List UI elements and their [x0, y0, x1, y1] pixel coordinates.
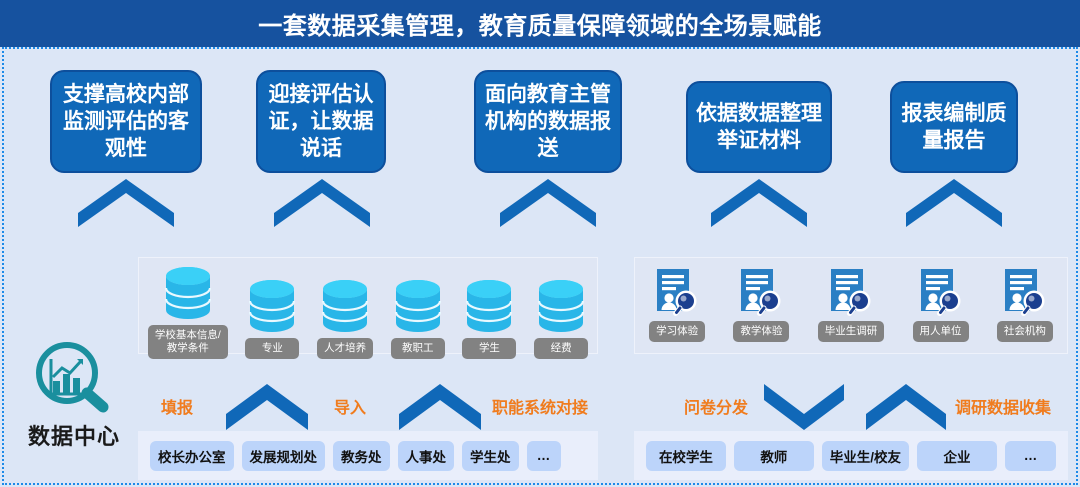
audience-chip-2[interactable]: 教师: [734, 441, 814, 471]
document-person-search-icon: [919, 268, 963, 316]
database-item-3[interactable]: 人才培养: [317, 279, 373, 359]
page-title: 一套数据采集管理，教育质量保障领域的全场景赋能: [0, 0, 1080, 47]
data-center-badge: 数据中心: [12, 341, 136, 451]
audience-chip-1[interactable]: 在校学生: [646, 441, 726, 471]
benefit-card-4[interactable]: 依据数据整理举证材料: [686, 81, 832, 173]
flow-label-tianbao: 填报: [161, 394, 193, 418]
chevron-up-icon-5: [906, 179, 1002, 227]
database-item-5-label: 学生: [462, 338, 516, 359]
benefit-card-2-label: 迎接评估认证，让数据说话: [264, 81, 378, 162]
magnifier-barchart-icon: [33, 341, 115, 417]
survey-item-5[interactable]: 社会机构: [997, 268, 1053, 342]
database-item-4[interactable]: 教职工: [391, 279, 445, 359]
chevron-up-icon-flow-2: [399, 384, 481, 430]
survey-item-4-label: 用人单位: [913, 321, 969, 342]
benefit-card-3-label: 面向教育主管机构的数据报送: [482, 81, 614, 162]
database-cylinder-icon: [464, 279, 514, 333]
database-item-4-label: 教职工: [391, 338, 445, 359]
source-chip-1[interactable]: 校长办公室: [150, 441, 234, 471]
left-source-strip: 校长办公室 发展规划处 教务处 人事处 学生处 …: [138, 431, 598, 480]
flow-label-daoru: 导入: [334, 394, 366, 418]
survey-item-4[interactable]: 用人单位: [913, 268, 969, 342]
survey-item-2-label: 教学体验: [733, 321, 789, 342]
database-cylinder-icon: [536, 279, 586, 333]
benefit-card-1-label: 支撑高校内部监测评估的客观性: [58, 81, 194, 162]
right-source-strip: 在校学生 教师 毕业生/校友 企业 …: [634, 431, 1068, 480]
flow-label-zhineng: 职能系统对接: [492, 394, 588, 418]
benefit-card-5-label: 报表编制质量报告: [898, 100, 1010, 154]
data-center-label: 数据中心: [28, 419, 120, 451]
chevron-down-icon-flow-1: [764, 384, 844, 430]
chevron-up-icon-2: [274, 179, 370, 227]
database-item-6-label: 经费: [534, 338, 588, 359]
database-item-2-label: 专业: [245, 338, 299, 359]
document-person-search-icon: [1003, 268, 1047, 316]
audience-chip-4[interactable]: 企业: [917, 441, 997, 471]
chevron-up-icon-1: [78, 179, 174, 227]
chevron-up-icon-4: [711, 179, 807, 227]
source-chip-2[interactable]: 发展规划处: [242, 441, 326, 471]
database-item-3-label: 人才培养: [317, 338, 373, 359]
survey-item-2[interactable]: 教学体验: [733, 268, 789, 342]
audience-chip-more[interactable]: …: [1005, 441, 1056, 471]
database-item-5[interactable]: 学生: [462, 279, 516, 359]
document-person-search-icon: [655, 268, 699, 316]
survey-item-3-label: 毕业生调研: [818, 321, 885, 342]
source-chip-4[interactable]: 人事处: [398, 441, 455, 471]
audience-chip-3[interactable]: 毕业生/校友: [822, 441, 909, 471]
survey-item-5-label: 社会机构: [997, 321, 1053, 342]
database-item-1-label: 学校基本信息/ 教学条件: [148, 325, 228, 359]
database-item-1[interactable]: 学校基本信息/ 教学条件: [148, 266, 228, 359]
left-panel-databases: 学校基本信息/ 教学条件 专业: [138, 257, 598, 354]
database-cylinder-icon: [163, 266, 213, 320]
benefit-card-1[interactable]: 支撑高校内部监测评估的客观性: [50, 70, 202, 173]
benefit-card-3[interactable]: 面向教育主管机构的数据报送: [474, 70, 622, 173]
database-cylinder-icon: [247, 279, 297, 333]
chevron-up-icon-3: [500, 179, 596, 227]
source-chip-5[interactable]: 学生处: [462, 441, 519, 471]
right-panel-surveys: 学习体验 教: [634, 257, 1068, 354]
diagram-canvas: 支撑高校内部监测评估的客观性 迎接评估认证，让数据说话 面向教育主管机构的数据报…: [4, 49, 1076, 483]
database-cylinder-icon: [320, 279, 370, 333]
document-person-search-icon: [829, 268, 873, 316]
survey-item-1-label: 学习体验: [649, 321, 705, 342]
flow-label-diaoyan: 调研数据收集: [955, 394, 1051, 418]
chevron-up-icon-flow-1: [226, 384, 308, 430]
benefit-card-5[interactable]: 报表编制质量报告: [890, 81, 1018, 173]
chevron-up-icon-flow-3: [866, 384, 946, 430]
source-chip-3[interactable]: 教务处: [333, 441, 390, 471]
benefit-card-4-label: 依据数据整理举证材料: [694, 100, 824, 154]
flow-label-wenjuan: 问卷分发: [684, 394, 748, 418]
document-person-search-icon: [739, 268, 783, 316]
database-cylinder-icon: [393, 279, 443, 333]
survey-item-1[interactable]: 学习体验: [649, 268, 705, 342]
database-item-2[interactable]: 专业: [245, 279, 299, 359]
source-chip-more[interactable]: …: [527, 441, 561, 471]
header-bar: 一套数据采集管理，教育质量保障领域的全场景赋能: [0, 0, 1080, 47]
database-item-6[interactable]: 经费: [534, 279, 588, 359]
benefit-card-2[interactable]: 迎接评估认证，让数据说话: [256, 70, 386, 173]
infographic-root: 一套数据采集管理，教育质量保障领域的全场景赋能 支撑高校内部监测评估的客观性 迎…: [0, 0, 1080, 487]
survey-item-3[interactable]: 毕业生调研: [818, 268, 885, 342]
